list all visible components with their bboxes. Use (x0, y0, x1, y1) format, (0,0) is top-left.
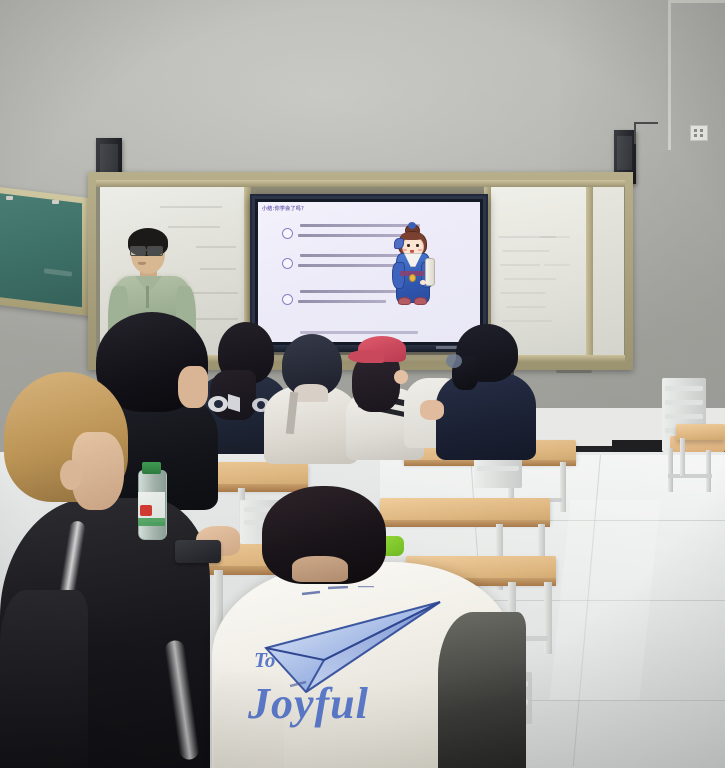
student-navy-right-torso (436, 372, 536, 460)
chalkboard-clip-right (52, 200, 59, 204)
whiteboard-panel-far-right (592, 184, 624, 358)
character-scroll (425, 258, 435, 286)
student-black-hair-left-ear-area (178, 366, 208, 408)
character-pendant (409, 274, 416, 282)
board-rail-top (96, 180, 625, 187)
teacher-glasses-right-lens (147, 246, 163, 256)
student-blonde-left-ear (60, 460, 82, 490)
character-eye-right (416, 244, 419, 247)
student-foreground-neck (292, 556, 348, 582)
teacher-glasses-left-lens (130, 246, 146, 256)
slide-bullet-marker-2 (282, 258, 293, 269)
desk-row2-right-leg-2 (560, 462, 566, 512)
student-center-white-neck (294, 384, 328, 402)
character-shoe-right (414, 297, 427, 305)
display-brand-mark (436, 346, 458, 349)
student-navy-logo-emblem-1-inner (214, 400, 223, 408)
character-hair-ribbon (394, 238, 404, 249)
classroom-photo: 小结:你学会了吗？ (0, 0, 725, 768)
student-blonde-left-shoulder (0, 590, 88, 768)
wall-outlet-plate (690, 125, 708, 141)
empty-chair-crossbar (668, 474, 712, 478)
desk-row1-right-edge (380, 520, 550, 527)
student-red-cap-cheek (394, 370, 408, 384)
slide-bullet-1-line-2 (298, 234, 416, 237)
character-bangs (401, 232, 423, 240)
tshirt-small-word: To (254, 648, 275, 673)
student-red-cap-brim (348, 350, 384, 363)
chalkboard-clip-left (6, 196, 13, 200)
character-eye-left (407, 244, 410, 247)
tshirt-word: Joyful (248, 678, 369, 729)
slide-bullet-3-line-2 (298, 300, 386, 303)
student-navy-right-hand (420, 400, 444, 420)
water-bottle-label-green (138, 518, 165, 526)
display-cable-run (556, 370, 592, 373)
empty-chair-leg-2 (706, 450, 711, 492)
teacher-glasses-bridge (144, 249, 147, 251)
water-bottle-label-red (140, 505, 152, 516)
empty-chair-leg-1 (668, 448, 673, 492)
teacher-mouth (138, 262, 146, 265)
door-frame-vertical (668, 0, 671, 150)
water-bottle-cap[interactable] (142, 462, 161, 474)
board-rail-right (586, 180, 593, 362)
character-hand (420, 280, 426, 285)
slide-footer (300, 331, 418, 334)
slide-bullet-1-line-1 (300, 224, 420, 227)
slide-header: 小结:你学会了吗？ (262, 205, 306, 212)
slide-bullet-marker-1 (282, 228, 293, 239)
speaker-cable (634, 122, 636, 144)
student-navy-logo-emblem-3-inner (257, 401, 265, 409)
desk-front-right-leg-2 (544, 582, 552, 654)
smartphone[interactable] (175, 540, 221, 563)
desk-far-right-leg (680, 438, 685, 476)
slide-bullet-marker-3 (282, 294, 293, 305)
chalkboard-surface (0, 193, 82, 308)
teacher-shirt-placket (146, 286, 149, 308)
speaker-cable-2 (636, 122, 658, 124)
character-shoe-left (398, 297, 411, 305)
character-bun-tie (408, 222, 416, 229)
door-frame-horizontal (668, 0, 725, 3)
student-navy-logo-hair-fall (210, 370, 256, 420)
student-navy-right-scrunchie (446, 354, 462, 368)
presentation-slide (258, 202, 480, 342)
desk-row1-right (380, 498, 550, 522)
